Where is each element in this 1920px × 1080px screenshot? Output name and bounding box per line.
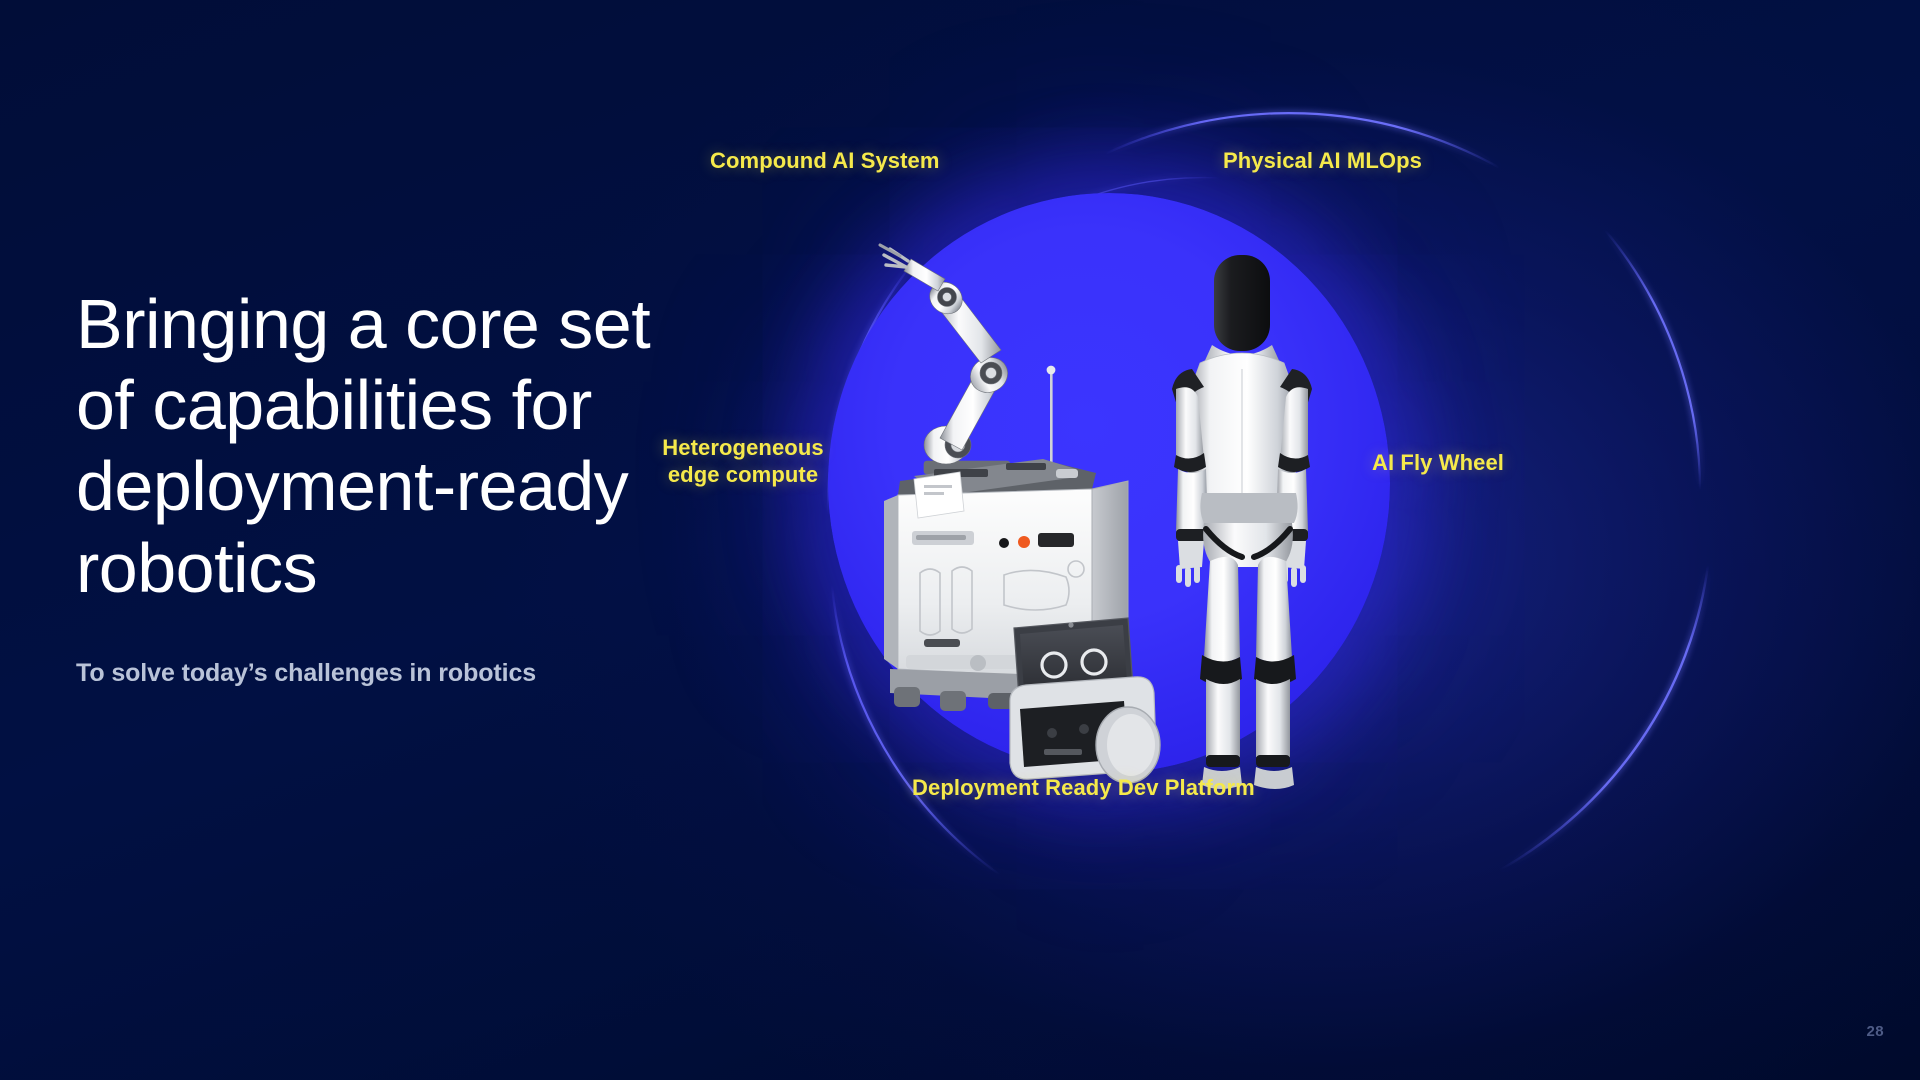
humanoid-thigh-left bbox=[1204, 557, 1240, 662]
label-ai-fly-wheel[interactable]: AI Fly Wheel bbox=[1372, 450, 1504, 477]
page-subtitle: To solve today’s challenges in robotics bbox=[76, 609, 716, 688]
arc-lower-right bbox=[1500, 565, 1708, 870]
humanoid-robot bbox=[1172, 255, 1312, 789]
humanoid-head bbox=[1214, 255, 1270, 351]
label-deployment-ready-dev-platform[interactable]: Deployment Ready Dev Platform bbox=[912, 775, 1255, 802]
page-title: Bringing a core set of capabilities for … bbox=[76, 284, 716, 609]
humanoid-foot-right bbox=[1254, 767, 1294, 789]
label-physical-ai-mlops[interactable]: Physical AI MLOps bbox=[1223, 148, 1422, 175]
capability-ring-diagram: Compound AI System Physical AI MLOps Het… bbox=[700, 60, 1880, 1020]
arc-upper-right bbox=[1605, 230, 1700, 490]
robot-wheel bbox=[1096, 707, 1160, 783]
slide-canvas: Bringing a core set of capabilities for … bbox=[0, 0, 1920, 1080]
humanoid-thigh-right bbox=[1256, 557, 1292, 662]
page-number: 28 bbox=[1867, 1023, 1885, 1040]
title-block: Bringing a core set of capabilities for … bbox=[76, 284, 716, 688]
robotic-arm bbox=[880, 245, 1014, 474]
label-heterogeneous-edge-compute[interactable]: Heterogeneous edge compute bbox=[638, 435, 848, 489]
robot-illustrations bbox=[828, 193, 1390, 793]
humanoid-hand-left bbox=[1176, 541, 1204, 587]
robot-group bbox=[828, 193, 1390, 793]
home-assistant-robot bbox=[1010, 618, 1160, 783]
label-compound-ai-system[interactable]: Compound AI System bbox=[710, 148, 940, 175]
antenna bbox=[1047, 366, 1056, 477]
